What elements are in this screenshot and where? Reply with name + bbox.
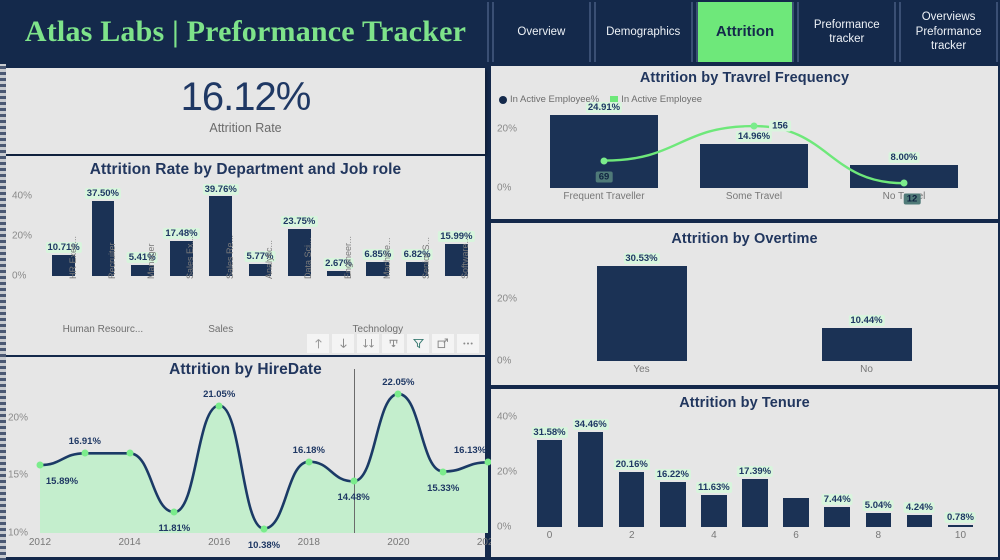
x-axis-label[interactable]: Manager xyxy=(146,243,156,279)
line-data-point[interactable] xyxy=(261,525,268,532)
line-data-label: 12 xyxy=(904,194,921,205)
tab-demographics[interactable]: Demographics xyxy=(594,2,693,62)
line-data-label: 16.91% xyxy=(67,436,103,447)
bar-data-label: 39.76% xyxy=(203,184,239,195)
bar[interactable] xyxy=(783,498,808,527)
line-data-point[interactable] xyxy=(216,402,223,409)
more-options-icon[interactable] xyxy=(457,334,479,353)
bar-data-label: 10.44% xyxy=(848,315,884,326)
drill-up-icon[interactable] xyxy=(307,334,329,353)
x-axis-label[interactable]: 2014 xyxy=(118,537,140,548)
line-data-point[interactable] xyxy=(751,123,758,130)
y-axis-tick: 0% xyxy=(497,522,511,533)
x-axis-label[interactable]: Recruiter xyxy=(107,242,117,279)
chart-title: Attrition by Tenure xyxy=(491,389,998,411)
y-axis-tick: 0% xyxy=(497,183,511,194)
x-axis-label[interactable]: Data Sci... xyxy=(303,237,313,279)
x-axis-label[interactable]: HR Exec... xyxy=(68,236,78,279)
expand-all-icon[interactable] xyxy=(357,334,379,353)
focus-mode-icon[interactable] xyxy=(432,334,454,353)
chart-plot-area[interactable]: 10%15%20%15.89%201216.91%201411.81%21.05… xyxy=(40,383,488,553)
nav-tabs: OverviewDemographicsAttritionPreformance… xyxy=(492,2,998,62)
page-title: Atlas Labs | Preformance Tracker xyxy=(4,2,489,62)
x-axis-label[interactable]: 2012 xyxy=(29,537,51,548)
y-axis-tick: 20% xyxy=(497,467,517,478)
visual-toolbar xyxy=(307,334,479,353)
chart-title: Attrition by HireDate xyxy=(6,357,485,379)
dashboard-root: Atlas Labs | Preformance Tracker Overvie… xyxy=(0,0,1000,560)
line-data-point[interactable] xyxy=(350,478,357,485)
x-axis-label[interactable]: Engineer... xyxy=(343,236,353,279)
bar-data-label: 23.75% xyxy=(281,216,317,227)
x-axis-label[interactable]: 2018 xyxy=(298,537,320,548)
x-axis-label[interactable]: 2 xyxy=(629,530,635,541)
bar[interactable] xyxy=(948,525,973,527)
line-data-point[interactable] xyxy=(126,450,133,457)
bar-data-label: 4.24% xyxy=(904,502,935,513)
bar-data-label: 30.53% xyxy=(623,253,659,264)
tab-overviews-preformance-tracker[interactable]: Overviews Preformance tracker xyxy=(899,2,998,62)
area-series-attrition xyxy=(40,383,488,533)
line-data-label: 15.33% xyxy=(425,483,461,494)
chart-title: Attrition by Overtime xyxy=(491,223,998,247)
x-axis-label[interactable]: 6 xyxy=(793,530,799,541)
y-axis-tick: 40% xyxy=(497,412,517,423)
line-data-label: 21.05% xyxy=(201,389,237,400)
line-data-label: 16.13% xyxy=(452,445,488,456)
y-axis-tick: 20% xyxy=(12,231,32,242)
y-axis-tick: 10% xyxy=(8,528,28,539)
bar-data-label: 37.50% xyxy=(85,188,121,199)
x-axis-label[interactable]: 2016 xyxy=(208,537,230,548)
x-axis-label[interactable]: Software... xyxy=(460,236,470,279)
tab-preformance-tracker[interactable]: Preformance tracker xyxy=(797,2,896,62)
page-title-text: Atlas Labs | Preformance Tracker xyxy=(25,15,466,49)
bar[interactable] xyxy=(619,472,644,527)
line-data-point[interactable] xyxy=(81,450,88,457)
tab-overview[interactable]: Overview xyxy=(492,2,591,62)
kpi-card-attrition-rate: 16.12% Attrition Rate xyxy=(6,68,485,154)
x-axis-label[interactable]: Some Travel xyxy=(726,191,782,202)
y-axis-tick: 20% xyxy=(497,124,517,135)
kpi-value: 16.12% xyxy=(6,68,485,120)
reference-line xyxy=(354,369,355,533)
y-axis-tick: 20% xyxy=(497,293,517,304)
bar-data-label: 34.46% xyxy=(573,419,609,430)
chart-attrition-by-overtime: Attrition by Overtime 0%20%30.53%Yes10.4… xyxy=(491,223,998,385)
chart-title: Attrition Rate by Department and Job rol… xyxy=(6,156,485,179)
line-data-label: 22.05% xyxy=(380,377,416,388)
chart-plot-area[interactable]: 0%20%40%10.71%HR Exec...37.50%Recruiter5… xyxy=(44,186,476,348)
bar-data-label: 7.44% xyxy=(822,494,853,505)
line-data-label: 156 xyxy=(769,121,791,132)
line-data-label: 11.81% xyxy=(157,523,193,534)
chart-plot-area[interactable]: 0%20%40%31.58%034.46%20.16%216.22%11.63%… xyxy=(529,417,981,545)
x-axis-label[interactable]: No xyxy=(860,364,873,375)
chart-plot-area[interactable]: 0%20%24.91%Frequent Traveller14.96%Some … xyxy=(529,106,979,206)
line-data-point[interactable] xyxy=(601,157,608,164)
x-axis-label[interactable]: Yes xyxy=(633,364,649,375)
legend-item[interactable]: In Active Employee xyxy=(610,94,702,105)
bar-data-label: 31.58% xyxy=(531,427,567,438)
x-axis-group-label[interactable]: Human Resourc... xyxy=(63,324,144,335)
bar[interactable] xyxy=(866,513,891,527)
x-axis-group-label[interactable]: Sales xyxy=(208,324,233,335)
x-axis-label[interactable]: 8 xyxy=(875,530,881,541)
x-axis-label[interactable]: 0 xyxy=(547,530,553,541)
legend-label: In Active Employee xyxy=(621,94,702,105)
bar-data-label: 16.22% xyxy=(655,469,691,480)
bar[interactable] xyxy=(824,507,849,527)
x-axis-label[interactable]: Sales Ex... xyxy=(185,236,195,279)
drill-down-icon[interactable] xyxy=(332,334,354,353)
line-data-label: 14.48% xyxy=(335,492,371,503)
bar[interactable] xyxy=(907,515,932,527)
bar-data-label: 17.39% xyxy=(737,466,773,477)
drill-mode-icon[interactable] xyxy=(382,334,404,353)
bar[interactable] xyxy=(742,479,767,527)
chart-plot-area[interactable]: 0%20%30.53%Yes10.44%No xyxy=(529,255,979,377)
x-axis-label[interactable]: 2020 xyxy=(387,537,409,548)
kpi-label: Attrition Rate xyxy=(6,121,485,135)
bar[interactable] xyxy=(578,432,603,527)
chart-attrition-by-hiredate: Attrition by HireDate 10%15%20%15.89%201… xyxy=(6,357,485,557)
y-axis-tick: 20% xyxy=(8,412,28,423)
line-data-point[interactable] xyxy=(440,468,447,475)
bar-data-label: 11.63% xyxy=(696,482,732,493)
chart-title: Attrition by Travrel Frequency xyxy=(491,66,998,86)
legend-item[interactable]: In Active Employee% xyxy=(499,94,599,105)
x-axis-label[interactable]: Frequent Traveller xyxy=(563,191,644,202)
x-axis-label[interactable]: Senior S... xyxy=(421,237,431,279)
line-data-label: 10.38% xyxy=(246,540,282,551)
y-axis-tick: 0% xyxy=(12,271,26,282)
bar[interactable] xyxy=(822,328,912,361)
line-data-point[interactable] xyxy=(37,462,44,469)
chart-attrition-by-department-and-job-role: Attrition Rate by Department and Job rol… xyxy=(6,156,485,355)
x-axis-label[interactable]: 10 xyxy=(955,530,966,541)
header-bar: Atlas Labs | Preformance Tracker Overvie… xyxy=(0,0,1000,64)
line-data-point[interactable] xyxy=(305,458,312,465)
line-data-label: 69 xyxy=(596,171,613,182)
legend-swatch xyxy=(499,96,507,104)
y-axis-tick: 40% xyxy=(12,191,32,202)
bar[interactable] xyxy=(537,440,562,527)
bar[interactable] xyxy=(660,482,685,527)
line-data-point[interactable] xyxy=(395,390,402,397)
filter-icon[interactable] xyxy=(407,334,429,353)
line-data-point[interactable] xyxy=(171,509,178,516)
bar[interactable] xyxy=(701,495,726,527)
line-data-label: 15.89% xyxy=(44,476,80,487)
chart-attrition-by-tenure: Attrition by Tenure 0%20%40%31.58%034.46… xyxy=(491,389,998,557)
x-axis-label[interactable]: Machine... xyxy=(382,237,392,279)
bar-data-label: 0.78% xyxy=(945,512,976,523)
line-data-label: 16.18% xyxy=(291,445,327,456)
tab-attrition[interactable]: Attrition xyxy=(696,2,795,62)
y-axis-tick: 15% xyxy=(8,470,28,481)
y-axis-tick: 0% xyxy=(497,356,511,367)
x-axis-label[interactable]: Analytic... xyxy=(264,240,274,279)
bar-data-label: 20.16% xyxy=(614,459,650,470)
x-axis-label[interactable]: Sales Re... xyxy=(225,235,235,279)
x-axis-label[interactable]: 4 xyxy=(711,530,717,541)
bar[interactable] xyxy=(597,266,687,361)
chart-attrition-by-travel-frequency: Attrition by Travrel Frequency In Active… xyxy=(491,66,998,219)
bar-data-label: 5.04% xyxy=(863,500,894,511)
line-data-point[interactable] xyxy=(901,180,908,187)
